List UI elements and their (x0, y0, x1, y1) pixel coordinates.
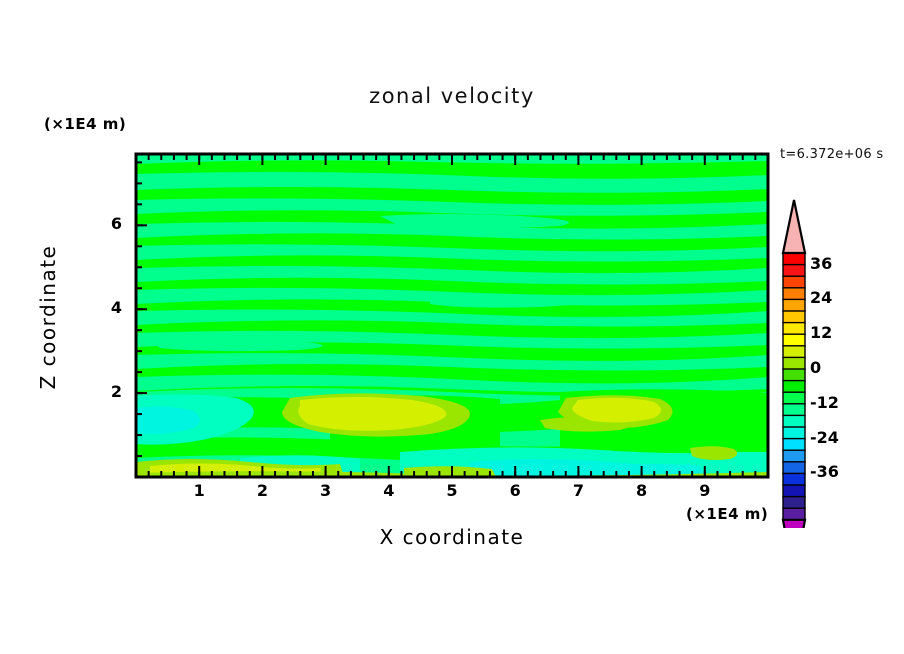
contour-plot-figure: zonal velocity (×1E4 m) (×1E4 m) t=6.372… (0, 0, 904, 654)
colorbar-bands (783, 253, 805, 520)
colorbar-band (783, 288, 805, 300)
x-tick-label: 2 (250, 481, 274, 500)
colorbar-band (783, 415, 805, 427)
colorbar-band (783, 334, 805, 346)
colorbar-band (783, 392, 805, 404)
colorbar-band (783, 473, 805, 485)
colorbar-band (783, 427, 805, 439)
x-tick-label: 4 (377, 481, 401, 500)
colorbar-band (783, 311, 805, 323)
x-tick-label: 6 (503, 481, 527, 500)
x-tick-label: 5 (440, 481, 464, 500)
colorbar (775, 198, 904, 528)
colorbar-band (783, 323, 805, 335)
colorbar-band (783, 508, 805, 520)
x-tick-label: 3 (314, 481, 338, 500)
colorbar-band (783, 346, 805, 358)
colorbar-band (783, 381, 805, 393)
y-tick-label: 2 (102, 382, 122, 401)
colorbar-tick-label: -24 (810, 428, 839, 447)
colorbar-band (783, 369, 805, 381)
colorbar-tick-label: -12 (810, 393, 839, 412)
contour-field (0, 0, 904, 654)
colorbar-band (783, 439, 805, 451)
contour-bands (136, 154, 768, 477)
colorbar-band (783, 497, 805, 509)
colorbar-band (783, 485, 805, 497)
y-tick-label: 4 (102, 298, 122, 317)
colorbar-tick-label: 36 (810, 254, 832, 273)
colorbar-band (783, 462, 805, 474)
colorbar-tick-label: -36 (810, 462, 839, 481)
colorbar-tick-label: 24 (810, 288, 832, 307)
y-tick-label: 6 (102, 214, 122, 233)
x-tick-label: 9 (693, 481, 717, 500)
colorbar-band (783, 450, 805, 462)
x-tick-label: 1 (187, 481, 211, 500)
colorbar-band (783, 265, 805, 277)
colorbar-band (783, 276, 805, 288)
colorbar-under-cap (783, 520, 805, 528)
colorbar-band (783, 299, 805, 311)
colorbar-band (783, 253, 805, 265)
x-tick-label: 8 (630, 481, 654, 500)
colorbar-tick-label: 12 (810, 323, 832, 342)
x-tick-label: 7 (566, 481, 590, 500)
colorbar-band (783, 357, 805, 369)
colorbar-over-cap (783, 200, 805, 253)
colorbar-tick-label: 0 (810, 358, 821, 377)
colorbar-band (783, 404, 805, 416)
